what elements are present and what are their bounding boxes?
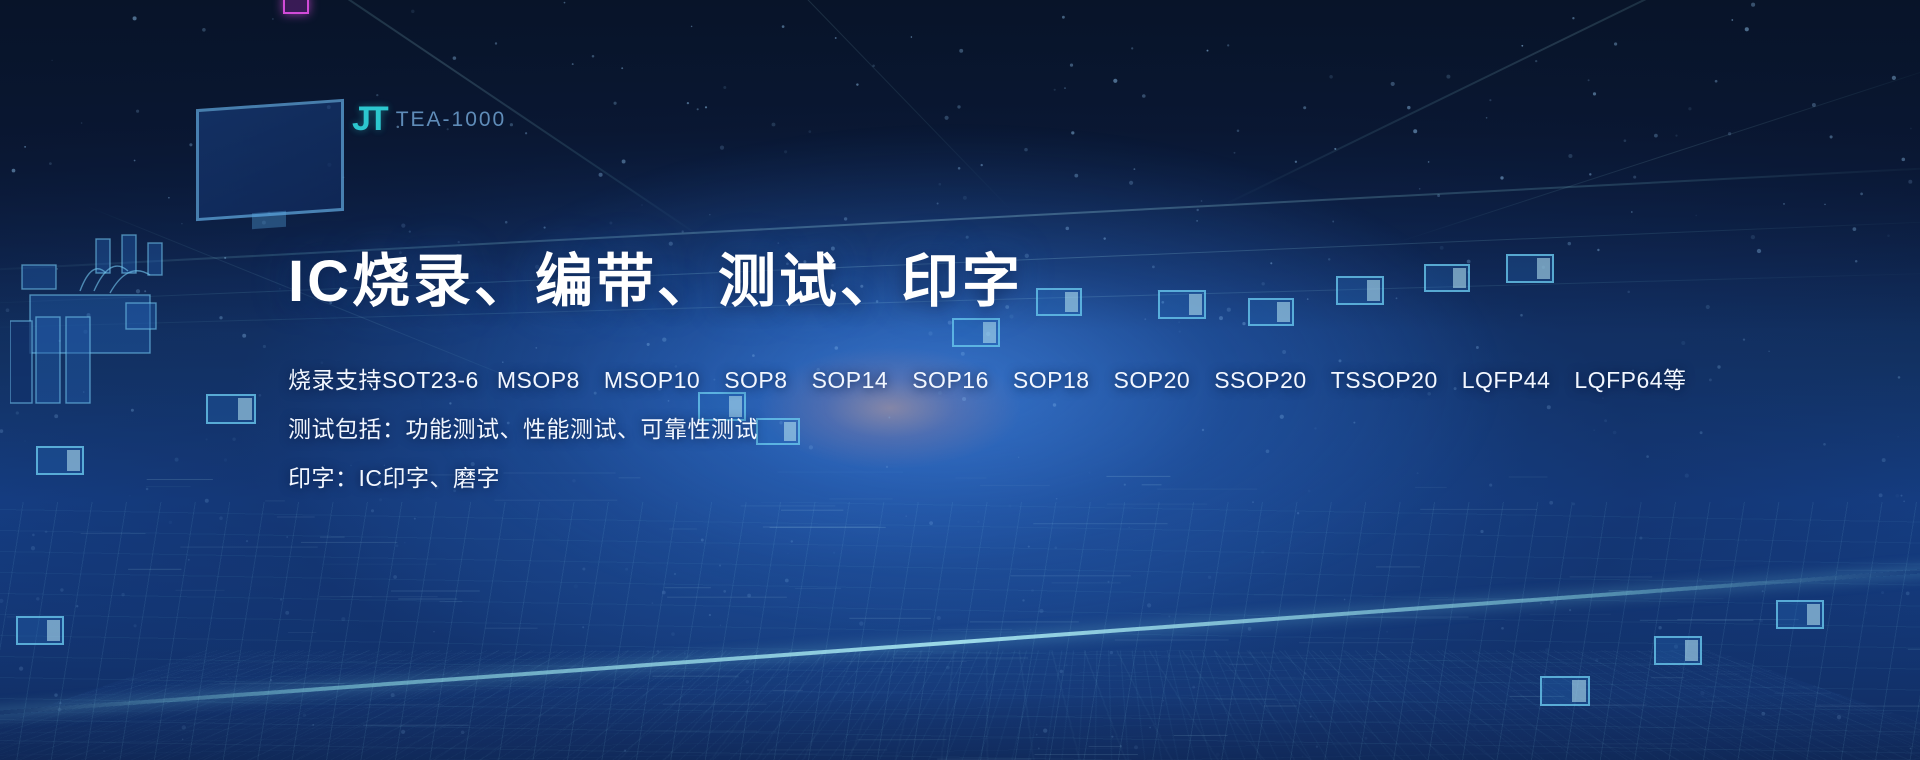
package-label: SOP8 — [724, 369, 787, 392]
brand-model-label: TEA-1000 — [396, 108, 507, 132]
chip-glyph — [1540, 676, 1590, 706]
package-label: SOP20 — [1114, 369, 1191, 392]
test-scope-line: 测试包括：功能测试、性能测试、可靠性测试 — [288, 418, 1588, 441]
text-content-block: IC烧录、编带、测试、印字 烧录支持SOT23-6MSOP8MSOP10SOP8… — [288, 250, 1588, 516]
package-label: SSOP20 — [1214, 369, 1307, 392]
chip-glyph — [1654, 636, 1702, 665]
watermark-logo: JT TEA-1000 — [352, 100, 506, 139]
chip-glyph — [206, 394, 256, 424]
promo-banner: JT TEA-1000 IC烧录、编带、测试、印字 烧录支持SOT23-6MSO… — [0, 0, 1920, 760]
machinery-illustration — [10, 225, 200, 420]
burn-support-lead: 烧录支持SOT23-6 — [288, 367, 479, 393]
monitor-stand — [252, 211, 286, 229]
monitor-illustration — [196, 104, 344, 216]
package-label: SOP14 — [812, 369, 889, 392]
chip-glyph — [16, 616, 64, 645]
package-label: LQFP44 — [1462, 369, 1551, 392]
package-label: MSOP8 — [497, 369, 580, 392]
package-label: SOP18 — [1013, 369, 1090, 392]
package-list: MSOP8MSOP10SOP8SOP14SOP16SOP18SOP20SSOP2… — [497, 367, 1687, 393]
package-label: LQFP64等 — [1574, 369, 1686, 392]
chip-glyph — [36, 446, 84, 475]
package-label: SOP16 — [912, 369, 989, 392]
burn-support-line: 烧录支持SOT23-6MSOP8MSOP10SOP8SOP14SOP16SOP1… — [288, 369, 1588, 392]
package-label: TSSOP20 — [1331, 369, 1438, 392]
brand-logo-jt: JT — [352, 100, 386, 139]
monitor-screen — [196, 99, 344, 221]
top-accent-marker — [283, 0, 309, 14]
marking-line: 印字：IC印字、磨字 — [288, 467, 1588, 490]
page-title: IC烧录、编带、测试、印字 — [288, 250, 1588, 315]
circuit-floor-overlay — [0, 502, 1920, 760]
chip-glyph — [1776, 600, 1824, 629]
package-label: MSOP10 — [604, 369, 700, 392]
